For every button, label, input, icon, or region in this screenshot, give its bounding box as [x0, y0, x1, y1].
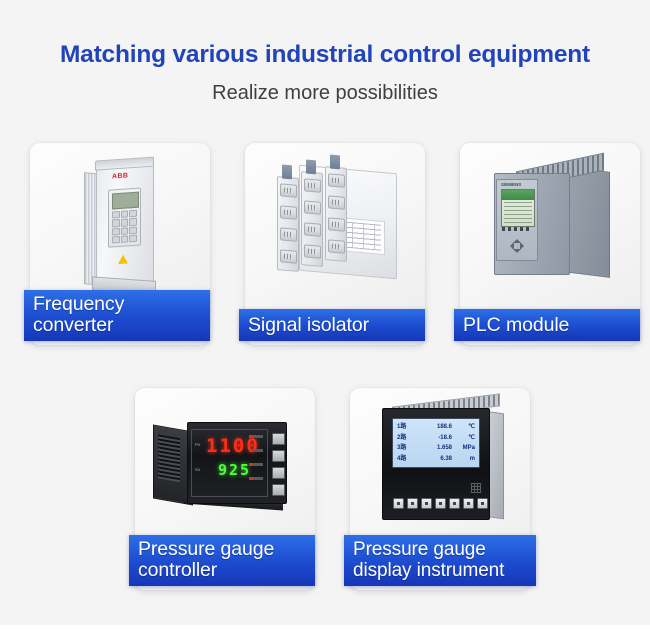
arrow-left-icon: [506, 242, 514, 250]
recorder-front-panel: 1路 188.6 ℃ 2路 -18.6 ℃ 3路 1.6: [382, 408, 490, 520]
recorder-key-up[interactable]: [407, 498, 418, 509]
signal-isolator-icon: [269, 163, 401, 283]
lcd-channel-row: 4路 6.38 m: [397, 454, 475, 465]
screw-terminal: [280, 227, 297, 241]
card-label-line-1: Frequency: [33, 294, 210, 315]
product-card-plc-module[interactable]: SIEMENS: [460, 143, 640, 345]
recorder-lcd-display: 1路 188.6 ℃ 2路 -18.6 ℃ 3路 1.6: [392, 418, 480, 468]
card-label-line-2: converter: [33, 315, 210, 336]
meter-sv-value: 925: [218, 463, 251, 478]
heading-block: Matching various industrial control equi…: [0, 40, 650, 105]
screw-terminal: [280, 183, 297, 197]
page-bottom-edge: [0, 625, 650, 637]
card-label-line-1: Pressure gauge: [138, 539, 315, 560]
card-label-line-2: display instrument: [353, 560, 536, 581]
screw-terminal: [304, 244, 321, 258]
lcd-channel-row: 3路 1.658 MPa: [397, 443, 475, 454]
screw-terminal: [304, 222, 321, 236]
lcd-channel-unit: MPa: [453, 443, 475, 454]
vfd-drive-icon: ABB: [82, 156, 156, 291]
plc-front-face: SIEMENS: [496, 179, 538, 261]
card-label-pressure-gauge-display-instrument: Pressure gauge display instrument: [344, 535, 536, 586]
isolator-module: [325, 166, 347, 262]
panel-meter-icon: PV SV 1100 925: [153, 422, 301, 508]
vfd-lcd-screen: [112, 192, 139, 210]
meter-front-panel: PV SV 1100 925: [187, 422, 287, 504]
plc-status-leds: [502, 227, 532, 231]
plc-side-panel: [564, 166, 610, 278]
product-image-frequency-converter: ABB: [30, 143, 210, 303]
recorder-key-f2[interactable]: [463, 498, 474, 509]
din-clip-tab: [282, 164, 292, 179]
card-label-line-1: Pressure gauge: [353, 539, 536, 560]
lcd-channel-unit: ℃: [453, 422, 475, 433]
recorder-key-enter[interactable]: [449, 498, 460, 509]
meter-button[interactable]: [272, 467, 285, 479]
lcd-channel-label: 4路: [397, 454, 417, 465]
recorder-key-down[interactable]: [393, 498, 404, 509]
product-row-bottom: PV SV 1100 925: [135, 388, 530, 590]
product-image-pressure-gauge-controller: PV SV 1100 925: [135, 388, 315, 548]
screw-terminal: [328, 195, 345, 209]
card-label-line-1: PLC module: [463, 315, 640, 336]
product-image-plc-module: SIEMENS: [460, 143, 640, 303]
plc-display-screen: [501, 189, 535, 227]
page-subtitle: Realize more possibilities: [0, 81, 650, 105]
lcd-channel-label: 2路: [397, 433, 417, 444]
screw-terminal: [328, 239, 345, 253]
vfd-keypad-buttons: [112, 210, 137, 244]
meter-sv-tag: SV: [195, 467, 200, 472]
recorder-key-f1[interactable]: [477, 498, 488, 509]
card-label-frequency-converter: Frequency converter: [24, 290, 210, 341]
isolator-module: [301, 171, 323, 267]
screw-terminal: [280, 249, 297, 263]
vfd-keypad-panel: [108, 187, 141, 247]
paperless-recorder-icon: 1路 188.6 ℃ 2路 -18.6 ℃ 3路 1.6: [370, 400, 512, 534]
warning-triangle-icon: [118, 254, 128, 264]
lcd-channel-unit: m: [453, 454, 475, 465]
card-label-line-1: Signal isolator: [248, 315, 425, 336]
meter-button[interactable]: [272, 433, 285, 445]
meter-button[interactable]: [272, 450, 285, 462]
siemens-logo: SIEMENS: [501, 182, 521, 187]
recorder-key-right[interactable]: [435, 498, 446, 509]
recorder-brand-mark: [471, 483, 481, 493]
card-label-pressure-gauge-controller: Pressure gauge controller: [129, 535, 315, 586]
meter-pv-tag: PV: [195, 442, 200, 447]
plc-screen-text-lines: [504, 202, 532, 224]
card-label-signal-isolator: Signal isolator: [239, 309, 425, 341]
card-label-plc-module: PLC module: [454, 309, 640, 341]
meter-buttons[interactable]: [272, 433, 285, 501]
screw-terminal: [328, 173, 345, 187]
screw-terminal: [304, 200, 321, 214]
page-title: Matching various industrial control equi…: [0, 40, 650, 70]
lcd-channel-label: 3路: [397, 443, 417, 454]
screw-terminal: [280, 205, 297, 219]
product-card-pressure-gauge-controller[interactable]: PV SV 1100 925: [135, 388, 315, 590]
product-image-signal-isolator: [245, 143, 425, 303]
din-clip-tab: [330, 154, 340, 169]
lcd-channel-value: 188.6: [418, 422, 452, 433]
lcd-channel-row: 1路 188.6 ℃: [397, 422, 475, 433]
lcd-channel-value: 1.658: [418, 443, 452, 454]
arrow-down-icon: [513, 249, 521, 257]
lcd-channel-row: 2路 -18.6 ℃: [397, 433, 475, 444]
product-row-top: ABB Frequency converter: [30, 143, 640, 345]
lcd-channel-unit: ℃: [453, 433, 475, 444]
screw-terminal: [304, 178, 321, 192]
card-label-line-2: controller: [138, 560, 315, 581]
plc-module-icon: SIEMENS: [486, 165, 616, 281]
lcd-channel-label: 1路: [397, 422, 417, 433]
product-card-pressure-gauge-display-instrument[interactable]: 1路 188.6 ℃ 2路 -18.6 ℃ 3路 1.6: [350, 388, 530, 590]
meter-status-leds: [249, 435, 265, 491]
din-clip-tab: [306, 159, 316, 174]
abb-logo: ABB: [112, 172, 128, 180]
plc-screen-header: [502, 190, 534, 200]
isolator-module: [277, 176, 299, 272]
plc-navigation-pad: [506, 235, 528, 257]
arrow-right-icon: [520, 242, 528, 250]
meter-button[interactable]: [272, 484, 285, 496]
product-card-frequency-converter[interactable]: ABB Frequency converter: [30, 143, 210, 345]
product-image-pressure-gauge-display-instrument: 1路 188.6 ℃ 2路 -18.6 ℃ 3路 1.6: [350, 388, 530, 548]
promo-banner: Matching various industrial control equi…: [0, 0, 650, 637]
screw-terminal: [328, 217, 345, 231]
recorder-keypad[interactable]: [393, 498, 488, 509]
product-card-signal-isolator[interactable]: Signal isolator: [245, 143, 425, 345]
lcd-channel-value: -18.6: [418, 433, 452, 444]
recorder-key-left[interactable]: [421, 498, 432, 509]
lcd-channel-value: 6.38: [418, 454, 452, 465]
